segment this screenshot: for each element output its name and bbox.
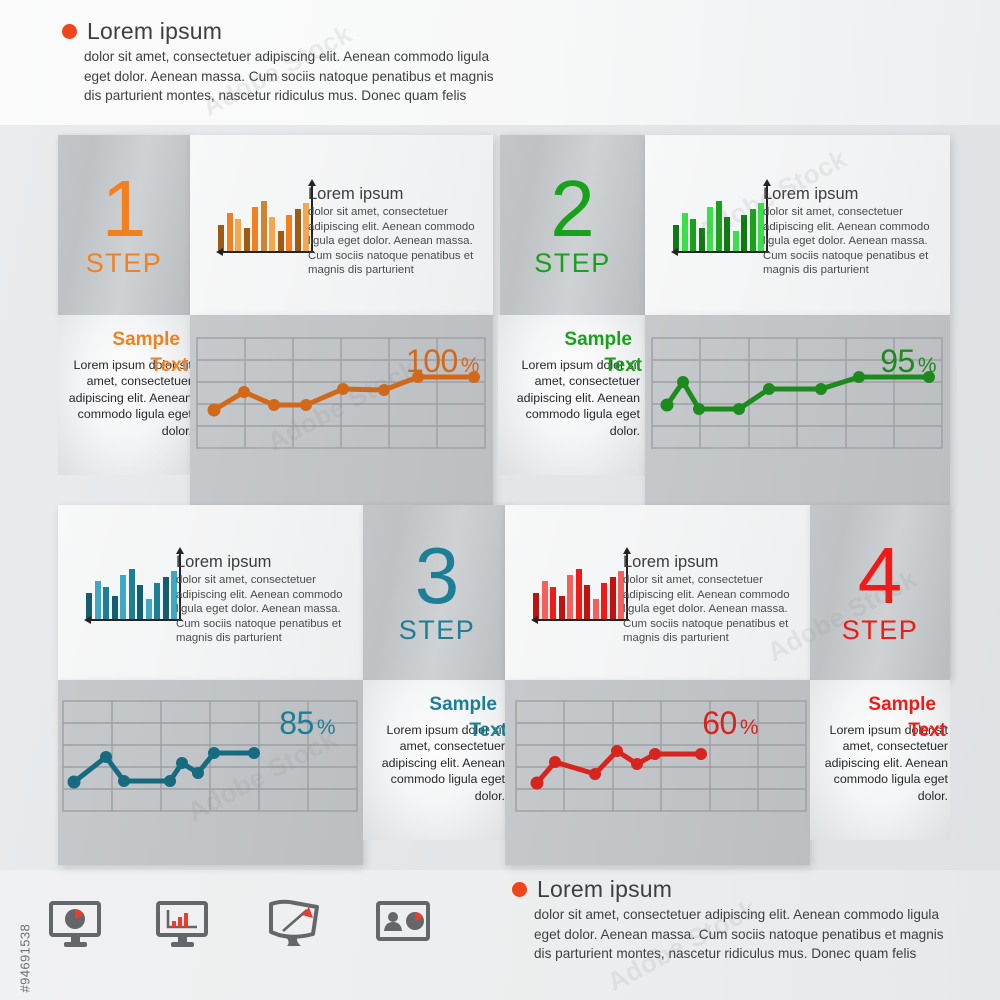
step-1-percent-value: 100	[406, 343, 458, 379]
step-3-number-panel[interactable]: 3 STEP	[363, 505, 511, 680]
header-title-row: Lorem ipsum	[62, 18, 504, 45]
step-1-info-panel[interactable]: Lorem ipsum dolor sit amet, consectetuer…	[190, 135, 493, 315]
step-1-sample: Sample Text Lorem ipsum dolor sit amet, …	[54, 357, 194, 439]
step-4-sample-word2: Text	[908, 720, 946, 742]
step-2-bar-chart	[673, 185, 768, 253]
step-2-chart-panel[interactable]: 95%	[645, 315, 950, 505]
step-1-head-title: Lorem ipsum	[308, 185, 478, 204]
step-1-sample-word1: Sample	[112, 329, 180, 351]
step-3-info-panel[interactable]: Lorem ipsum dolor sit amet, consectetuer…	[58, 505, 363, 680]
step-1-number-panel[interactable]: 1 STEP	[58, 135, 190, 315]
step-3-number: 3	[415, 539, 460, 613]
step-3-label: STEP	[399, 615, 476, 646]
monitor-bar-chart-icon	[155, 900, 211, 950]
step-3-percent-value: 85	[279, 705, 314, 741]
step-1-percent: 100%	[403, 343, 479, 380]
step-2-bars	[673, 201, 764, 253]
step-2-percent-value: 95	[880, 343, 915, 379]
presentation-person-chart-icon	[375, 900, 433, 948]
step-2-head-text: Lorem ipsum dolor sit amet, consectetuer…	[763, 185, 935, 278]
step-1-bars	[218, 201, 309, 253]
header-text-block: Lorem ipsum dolor sit amet, consectetuer…	[62, 18, 504, 106]
step-2-percent: 95%	[877, 343, 936, 380]
footer-icon-4[interactable]	[375, 900, 433, 953]
step-4-percent-symbol: %	[740, 716, 758, 739]
step-4-chart-panel[interactable]: 60%	[505, 680, 810, 865]
footer-icon-1[interactable]	[48, 900, 104, 955]
step-3-chart-panel[interactable]: 85%	[58, 680, 363, 865]
step-3-axis-horizontal	[90, 619, 182, 621]
footer-title-row: Lorem ipsum	[512, 876, 954, 903]
step-2-number: 2	[550, 172, 595, 246]
step-4-number: 4	[858, 539, 903, 613]
step-4-line-chart	[515, 700, 807, 820]
step-3-bar-chart	[86, 553, 181, 621]
step-4-sample-panel: Sample Text Lorem ipsum dolor sit amet, …	[810, 680, 950, 840]
step-1-sample-panel: Sample Text Lorem ipsum dolor sit amet, …	[58, 315, 190, 475]
step-3-sample: Sample Text Lorem ipsum dolor sit amet, …	[367, 722, 509, 804]
step-3-sample-word2: Text	[469, 720, 507, 742]
step-4-sample-word1: Sample	[868, 694, 936, 716]
footer-body: dolor sit amet, consectetuer adipiscing …	[534, 905, 954, 964]
bullet-dot-icon	[512, 882, 527, 897]
step-3-head-title: Lorem ipsum	[176, 553, 348, 572]
step-3-head-body: dolor sit amet, consectetuer adipiscing …	[176, 573, 348, 646]
monitor-pie-chart-icon	[48, 900, 104, 950]
step-4-number-panel[interactable]: 4 STEP	[810, 505, 950, 680]
step-4-head-text: Lorem ipsum dolor sit amet, consectetuer…	[623, 553, 795, 646]
step-4-axis-horizontal	[537, 619, 629, 621]
header-title: Lorem ipsum	[87, 18, 222, 45]
step-2-sample: Sample Text Lorem ipsum dolor sit amet, …	[502, 357, 644, 439]
step-4-percent: 60%	[699, 705, 758, 742]
step-3-sample-panel: Sample Text Lorem ipsum dolor sit amet, …	[363, 680, 511, 840]
bullet-dot-icon	[62, 24, 77, 39]
step-2-label: STEP	[534, 248, 611, 279]
step-4-head-body: dolor sit amet, consectetuer adipiscing …	[623, 573, 795, 646]
step-4-percent-value: 60	[702, 705, 737, 741]
step-2-info-panel[interactable]: Lorem ipsum dolor sit amet, consectetuer…	[645, 135, 950, 315]
step-2-sample-panel: Sample Text Lorem ipsum dolor sit amet, …	[498, 315, 645, 475]
step-3-percent: 85%	[276, 705, 335, 742]
step-2-head-title: Lorem ipsum	[763, 185, 935, 204]
step-2-head-body: dolor sit amet, consectetuer adipiscing …	[763, 205, 935, 278]
step-1-head-body: dolor sit amet, consectetuer adipiscing …	[308, 205, 478, 278]
step-1-percent-symbol: %	[461, 354, 479, 377]
step-1-chart-panel[interactable]: 100%	[190, 315, 493, 505]
footer-text-block: Lorem ipsum dolor sit amet, consectetuer…	[512, 876, 954, 964]
step-3-head-text: Lorem ipsum dolor sit amet, consectetuer…	[176, 553, 348, 646]
step-4-bar-chart	[533, 553, 628, 621]
step-4-bars	[533, 569, 624, 621]
step-4-label: STEP	[842, 615, 919, 646]
step-1-bar-chart	[218, 185, 313, 253]
step-1-number: 1	[102, 172, 147, 246]
header-body: dolor sit amet, consectetuer adipiscing …	[84, 47, 504, 106]
step-1-sample-word2: Text	[150, 355, 188, 377]
step-4-head-title: Lorem ipsum	[623, 553, 795, 572]
monitor-growth-arrow-icon	[265, 898, 325, 950]
step-2-percent-symbol: %	[918, 354, 936, 377]
step-2-axis-horizontal	[677, 251, 769, 253]
step-1-head-text: Lorem ipsum dolor sit amet, consectetuer…	[308, 185, 478, 278]
footer-icon-3[interactable]	[265, 898, 325, 955]
step-4-info-panel[interactable]: Lorem ipsum dolor sit amet, consectetuer…	[505, 505, 810, 680]
watermark-id: #94691538	[18, 883, 33, 993]
step-3-sample-word1: Sample	[429, 694, 497, 716]
step-3-percent-symbol: %	[317, 716, 335, 739]
step-1-axis-horizontal	[222, 251, 314, 253]
step-2-number-panel[interactable]: 2 STEP	[500, 135, 645, 315]
step-4-line-svg	[515, 700, 807, 820]
step-4-sample: Sample Text Lorem ipsum dolor sit amet, …	[810, 722, 948, 804]
step-1-label: STEP	[86, 248, 163, 279]
step-3-bars	[86, 569, 177, 621]
step-2-sample-word1: Sample	[564, 329, 632, 351]
footer-title: Lorem ipsum	[537, 876, 672, 903]
footer-icon-2[interactable]	[155, 900, 211, 955]
step-2-sample-word2: Text	[604, 355, 642, 377]
